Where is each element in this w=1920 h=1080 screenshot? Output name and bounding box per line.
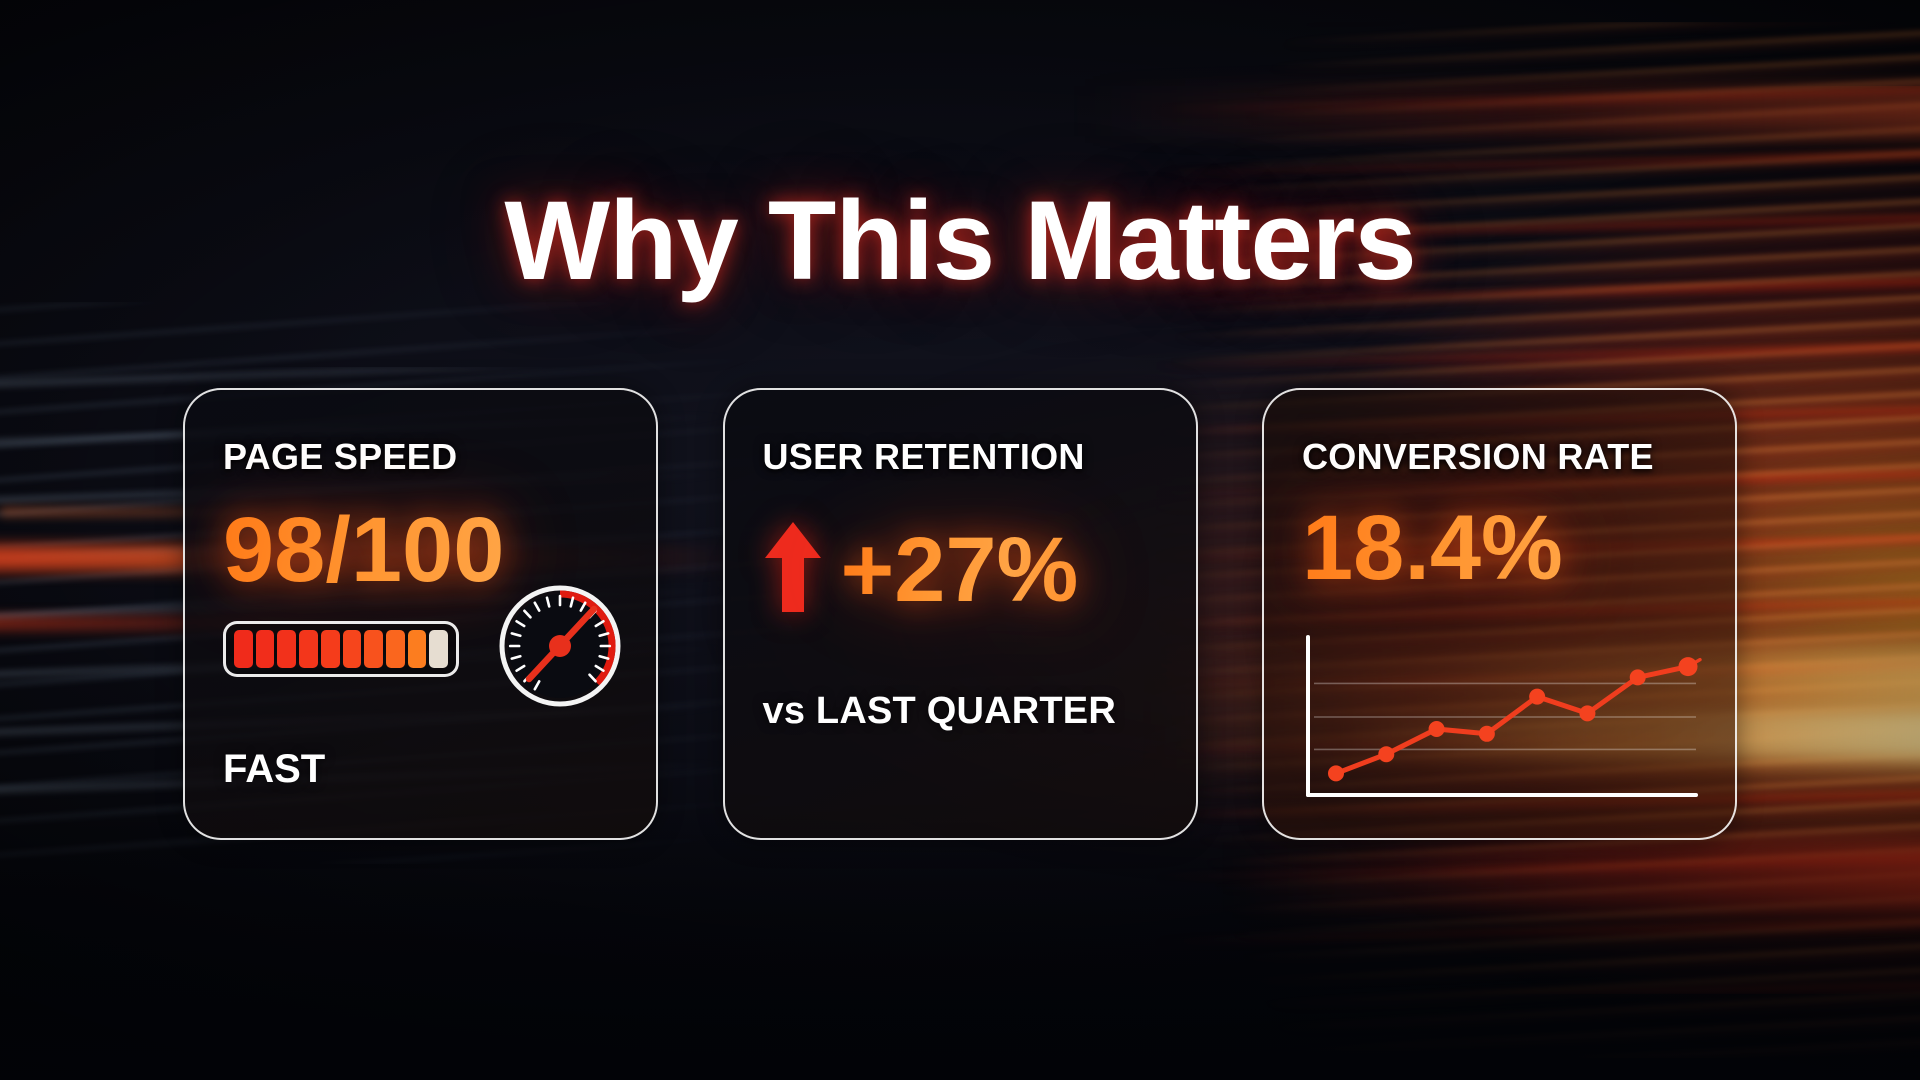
meter-segment bbox=[364, 630, 383, 668]
conversion-rate-value: 18.4% bbox=[1302, 502, 1697, 594]
chart-data-point bbox=[1378, 746, 1394, 762]
chart-data-point bbox=[1479, 726, 1495, 742]
page-title: Why This Matters bbox=[0, 176, 1920, 305]
meter-segment bbox=[321, 630, 340, 668]
chart-data-point bbox=[1429, 721, 1445, 737]
metric-card-page-speed[interactable]: PAGE SPEED 98/100 bbox=[183, 388, 658, 840]
user-retention-label: USER RETENTION bbox=[763, 436, 1158, 478]
meter-segment bbox=[299, 630, 318, 668]
conversion-rate-label: CONVERSION RATE bbox=[1302, 436, 1697, 478]
meter-segment bbox=[234, 630, 253, 668]
speedometer-gauge-icon bbox=[497, 583, 623, 714]
page-speed-label: PAGE SPEED bbox=[223, 436, 618, 478]
user-retention-value-row: +27% bbox=[763, 520, 1158, 619]
chart-data-point bbox=[1328, 765, 1344, 781]
arrow-up-icon bbox=[763, 520, 823, 619]
metric-card-user-retention[interactable]: USER RETENTION +27% vs LAST QUARTER bbox=[723, 388, 1198, 840]
chart-data-point bbox=[1679, 657, 1698, 676]
meter-segment bbox=[256, 630, 275, 668]
metric-card-row: PAGE SPEED 98/100 bbox=[183, 388, 1737, 840]
user-retention-subtext: vs LAST QUARTER bbox=[763, 690, 1116, 733]
page-speed-status: FAST bbox=[223, 747, 325, 792]
meter-segment-empty bbox=[429, 630, 448, 668]
meter-segment bbox=[277, 630, 296, 668]
user-retention-value: +27% bbox=[841, 524, 1079, 616]
page-speed-meter-row bbox=[223, 583, 626, 714]
page-speed-segment-meter bbox=[223, 621, 459, 677]
metric-card-conversion-rate[interactable]: CONVERSION RATE 18.4% bbox=[1262, 388, 1737, 840]
meter-segment bbox=[343, 630, 362, 668]
conversion-rate-line-chart bbox=[1296, 633, 1704, 816]
meter-segment bbox=[408, 630, 427, 668]
chart-data-point bbox=[1579, 705, 1595, 721]
chart-data-point bbox=[1630, 669, 1646, 685]
meter-segment bbox=[386, 630, 405, 668]
chart-data-point bbox=[1529, 689, 1545, 705]
